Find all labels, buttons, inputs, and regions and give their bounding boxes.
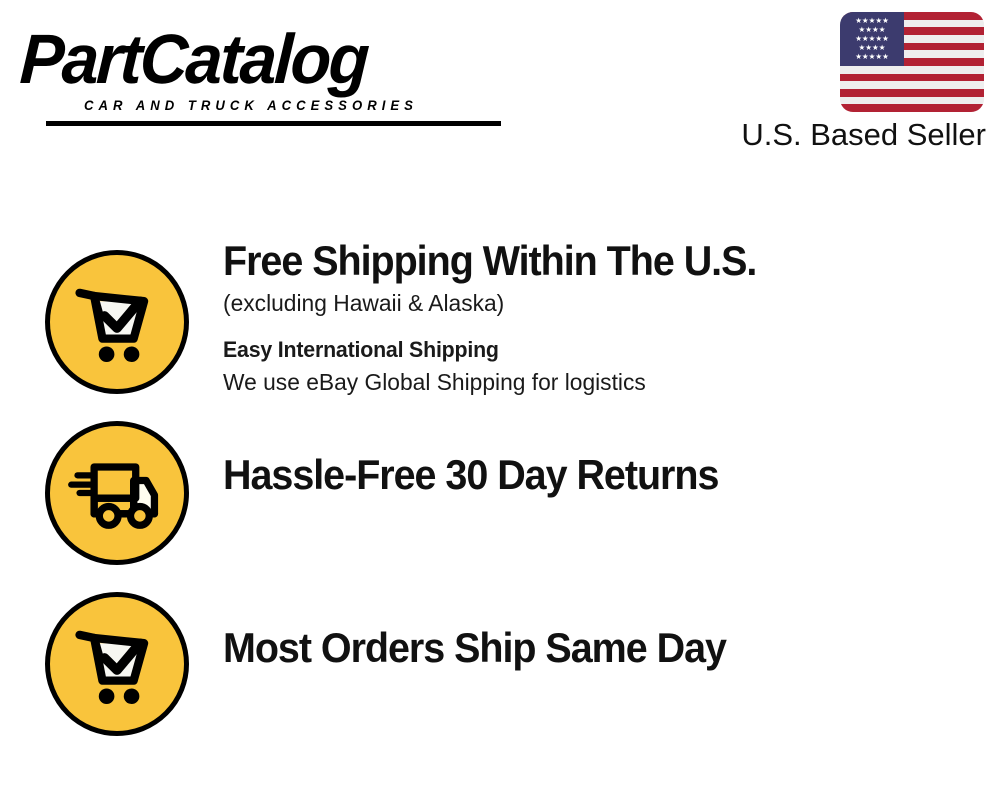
delivery-truck-icon: [45, 421, 189, 565]
shopping-cart-check-icon: [45, 592, 189, 736]
brand-tagline: CAR AND TRUCK ACCESSORIES: [84, 98, 418, 113]
flag-stripe: [840, 89, 984, 97]
feature-subtitle: (excluding Hawaii & Alaska): [223, 287, 941, 319]
feature-title: Most Orders Ship Same Day: [223, 623, 919, 673]
feature-title: Free Shipping Within The U.S.: [223, 236, 919, 286]
brand-logo-underline: [46, 121, 501, 126]
flag-star-row: ★★★★★: [840, 53, 904, 61]
feature-subtitle-bold: Easy International Shipping: [223, 335, 941, 365]
us-flag-block: ★★★★★ ★★★★ ★★★★★ ★★★★ ★★★★★: [840, 12, 984, 112]
brand-wordmark: PartCatalog: [18, 22, 369, 96]
shopping-cart-check-icon: [45, 250, 189, 394]
feature-text: Free Shipping Within The U.S. (excluding…: [223, 222, 963, 398]
flag-star-row: ★★★★: [840, 44, 904, 52]
flag-stripe: [840, 97, 984, 105]
feature-title: Hassle-Free 30 Day Returns: [223, 450, 919, 500]
shopping-cart-check-glyph: [65, 270, 169, 374]
flag-stripe: [840, 81, 984, 89]
page-header: PartCatalog CAR AND TRUCK ACCESSORIES ★★…: [0, 0, 1000, 175]
shopping-cart-check-glyph: [65, 612, 169, 716]
flag-star-row: ★★★★★: [840, 17, 904, 25]
flag-star-row: ★★★★★: [840, 35, 904, 43]
feature-text: Most Orders Ship Same Day: [223, 564, 963, 673]
delivery-truck-glyph: [65, 441, 169, 545]
us-flag-icon: ★★★★★ ★★★★ ★★★★★ ★★★★ ★★★★★: [840, 12, 984, 112]
brand-logo[interactable]: PartCatalog CAR AND TRUCK ACCESSORIES: [22, 22, 492, 117]
us-based-seller-label: U.S. Based Seller: [741, 117, 986, 153]
flag-stripe: [840, 66, 984, 74]
feature-text: Hassle-Free 30 Day Returns: [223, 393, 963, 500]
flag-star-row: ★★★★: [840, 26, 904, 34]
flag-stripe: [840, 74, 984, 82]
flag-stripe: [840, 104, 984, 112]
